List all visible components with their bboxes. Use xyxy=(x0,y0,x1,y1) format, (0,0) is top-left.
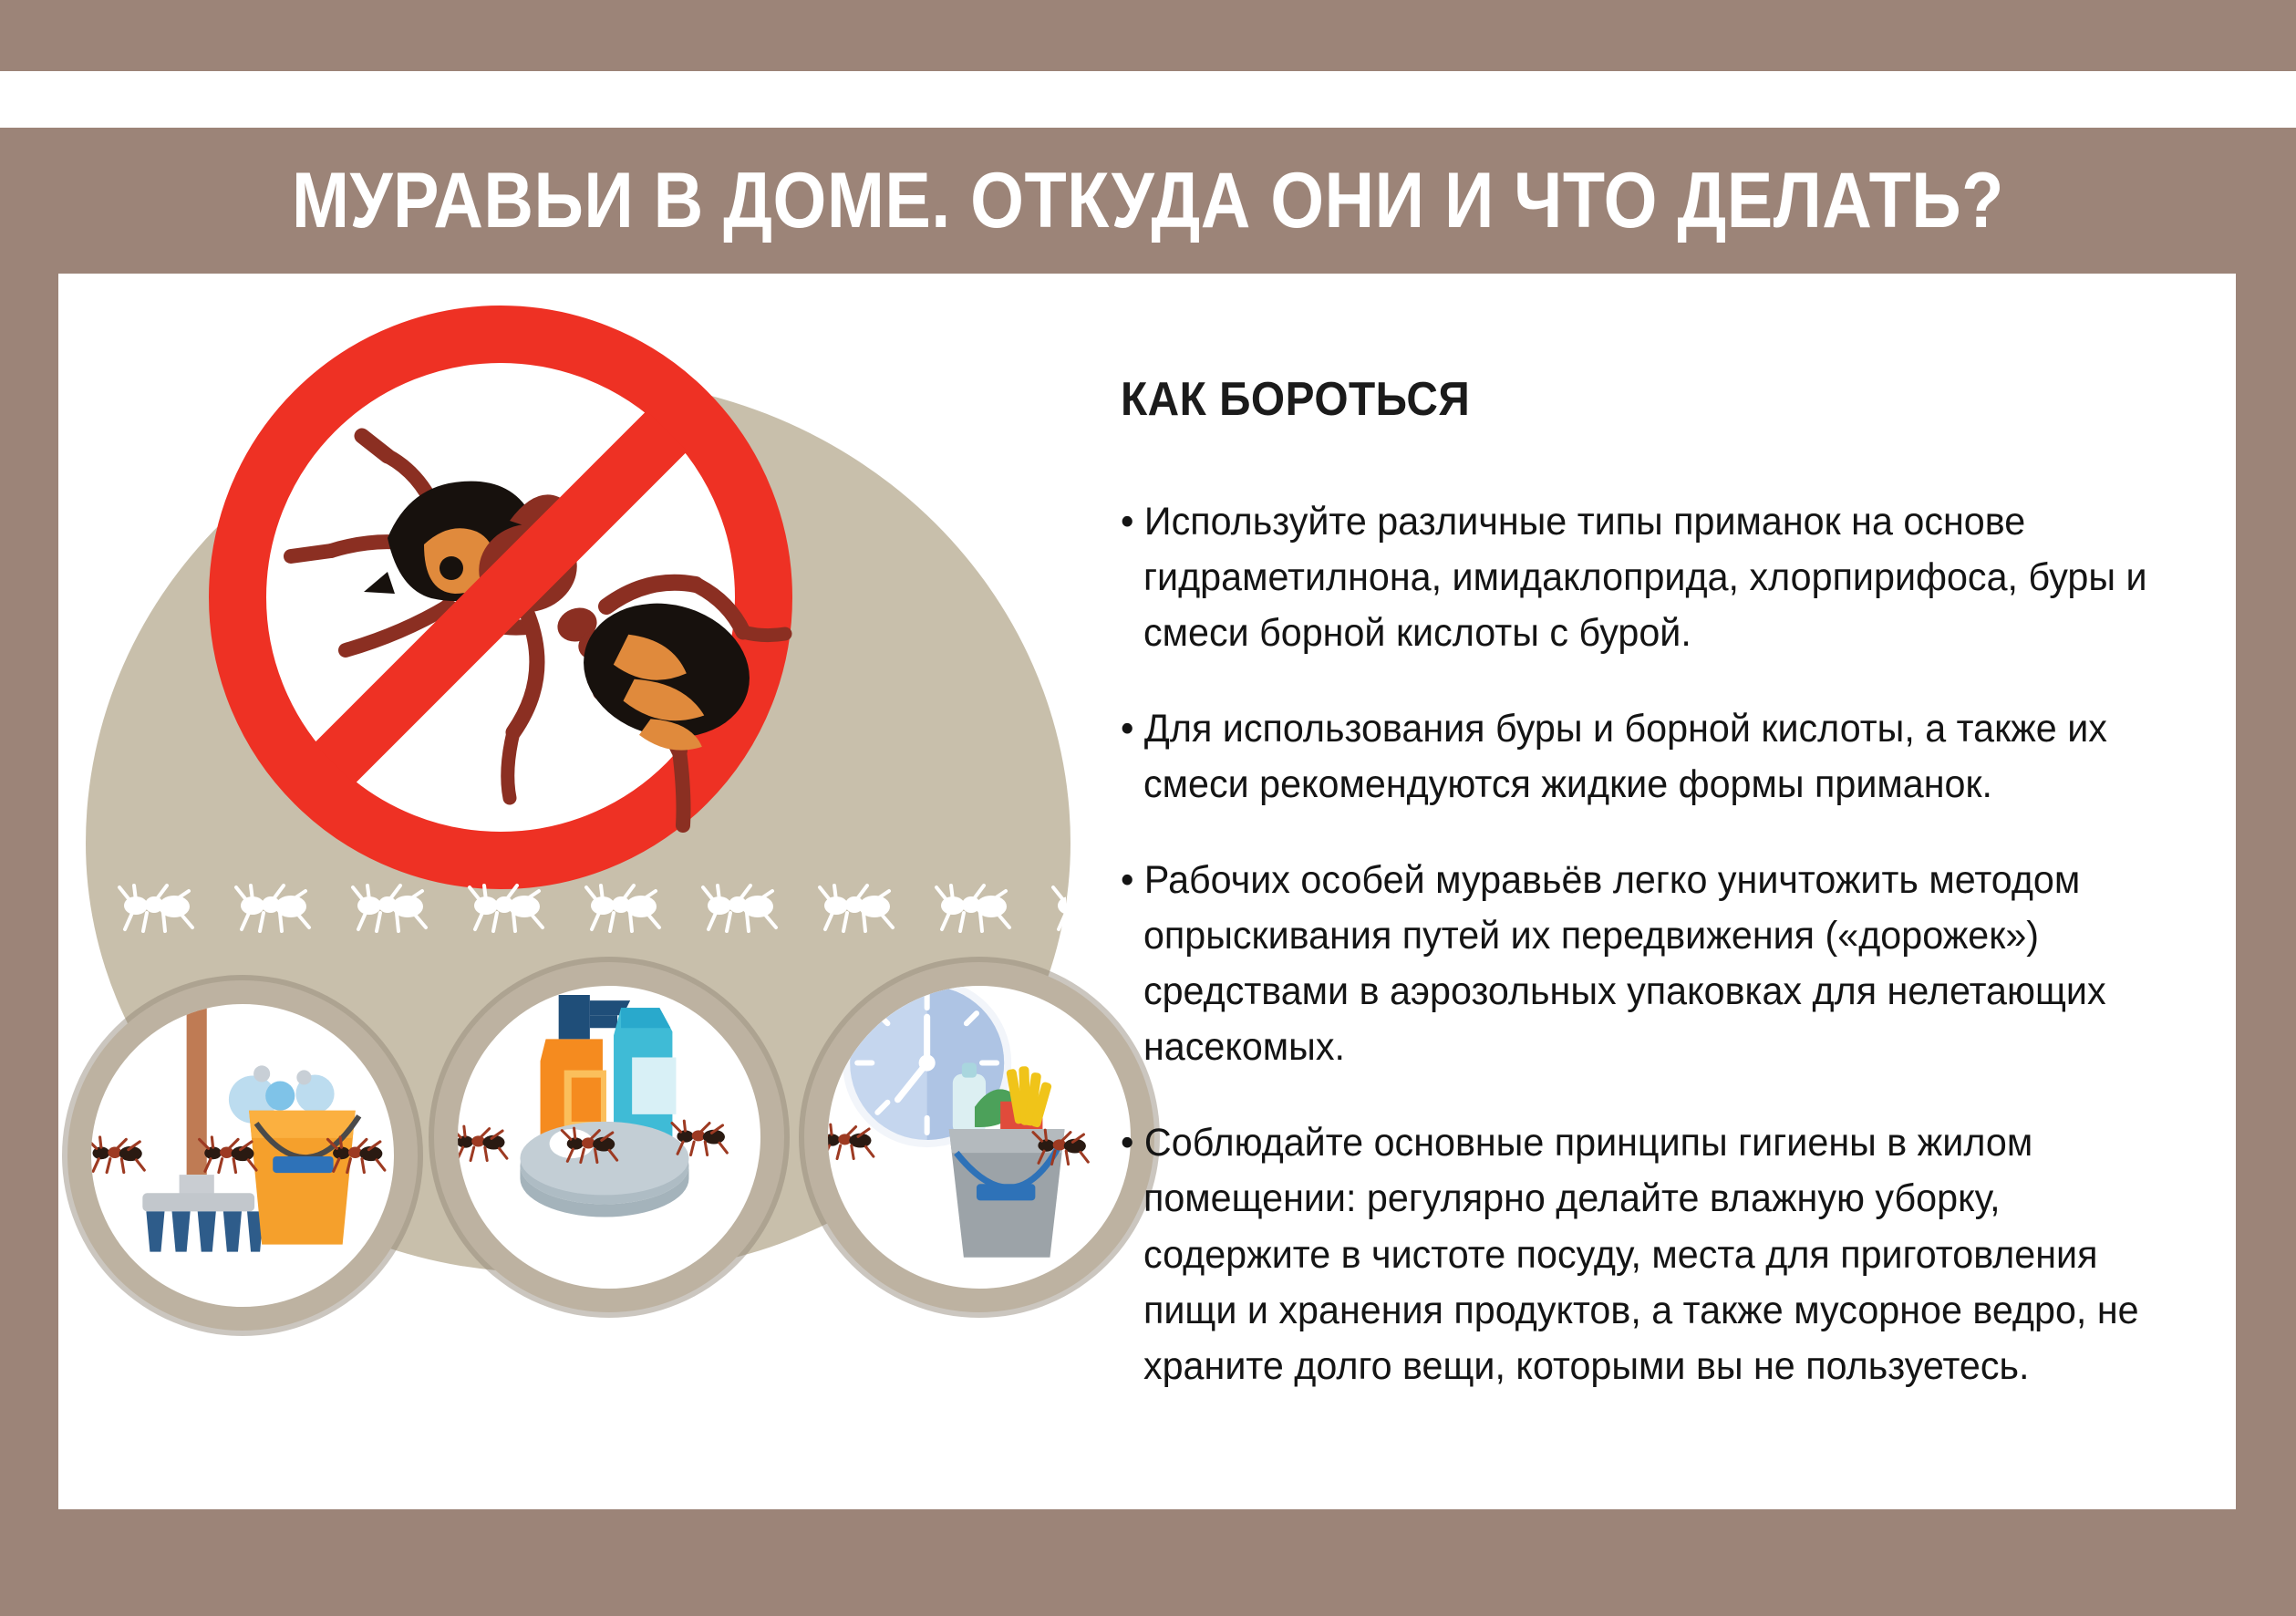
ants-in-circle-icon xyxy=(458,986,760,1289)
frame-band-top xyxy=(0,0,2296,71)
ant-silhouette-icon xyxy=(926,878,1020,935)
frame-band-bottom xyxy=(0,1509,2296,1616)
icon-circles-row xyxy=(58,953,1116,1354)
ant-silhouette-icon xyxy=(575,878,670,935)
howto-heading: КАК БОРОТЬСЯ xyxy=(1121,372,2144,427)
ant-silhouette-icon xyxy=(692,878,787,935)
circle-cleaning-mop-bucket xyxy=(67,980,418,1331)
howto-bullet-3: • Рабочих особей муравьёв легко уничтожи… xyxy=(1121,853,2162,1075)
circle-clock-trash xyxy=(804,962,1154,1312)
content-area: КАК БОРОТЬСЯ • Используйте различные тип… xyxy=(58,274,2236,1509)
poster-root: МУРАВЬИ В ДОМЕ. ОТКУДА ОНИ И ЧТО ДЕЛАТЬ? xyxy=(0,0,2296,1616)
howto-bullet-2: • Для использования буры и борной кислот… xyxy=(1121,701,2162,813)
howto-bullet-1: • Используйте различные типы приманок на… xyxy=(1121,494,2162,661)
howto-bullet-4: • Соблюдайте основные принципы гигиены в… xyxy=(1121,1115,2162,1393)
ant-silhouette-icon xyxy=(809,878,904,935)
howto-panel: КАК БОРОТЬСЯ • Используйте различные тип… xyxy=(1121,274,2233,1509)
ants-in-circle-icon xyxy=(828,986,1131,1289)
ant-silhouette-icon xyxy=(225,878,320,935)
no-ants-sign xyxy=(209,306,792,889)
ant-silhouette-icon xyxy=(342,878,437,935)
title-bar: МУРАВЬИ В ДОМЕ. ОТКУДА ОНИ И ЧТО ДЕЛАТЬ? xyxy=(0,128,2296,274)
ant-trail-band xyxy=(109,871,1066,942)
frame-band-left xyxy=(0,128,58,1509)
ant-silhouette-icon xyxy=(109,878,203,935)
ants-in-circle-icon xyxy=(91,1004,394,1307)
ant-silhouette-icon xyxy=(459,878,553,935)
ant-silhouette-icon xyxy=(1042,878,1066,935)
illustration-panel xyxy=(58,274,1116,1509)
howto-bullet-list: • Используйте различные типы приманок на… xyxy=(1121,494,2233,1394)
circle-cleaning-products xyxy=(434,962,784,1312)
frame-band-right xyxy=(2236,128,2296,1509)
page-title: МУРАВЬИ В ДОМЕ. ОТКУДА ОНИ И ЧТО ДЕЛАТЬ? xyxy=(292,161,2004,240)
